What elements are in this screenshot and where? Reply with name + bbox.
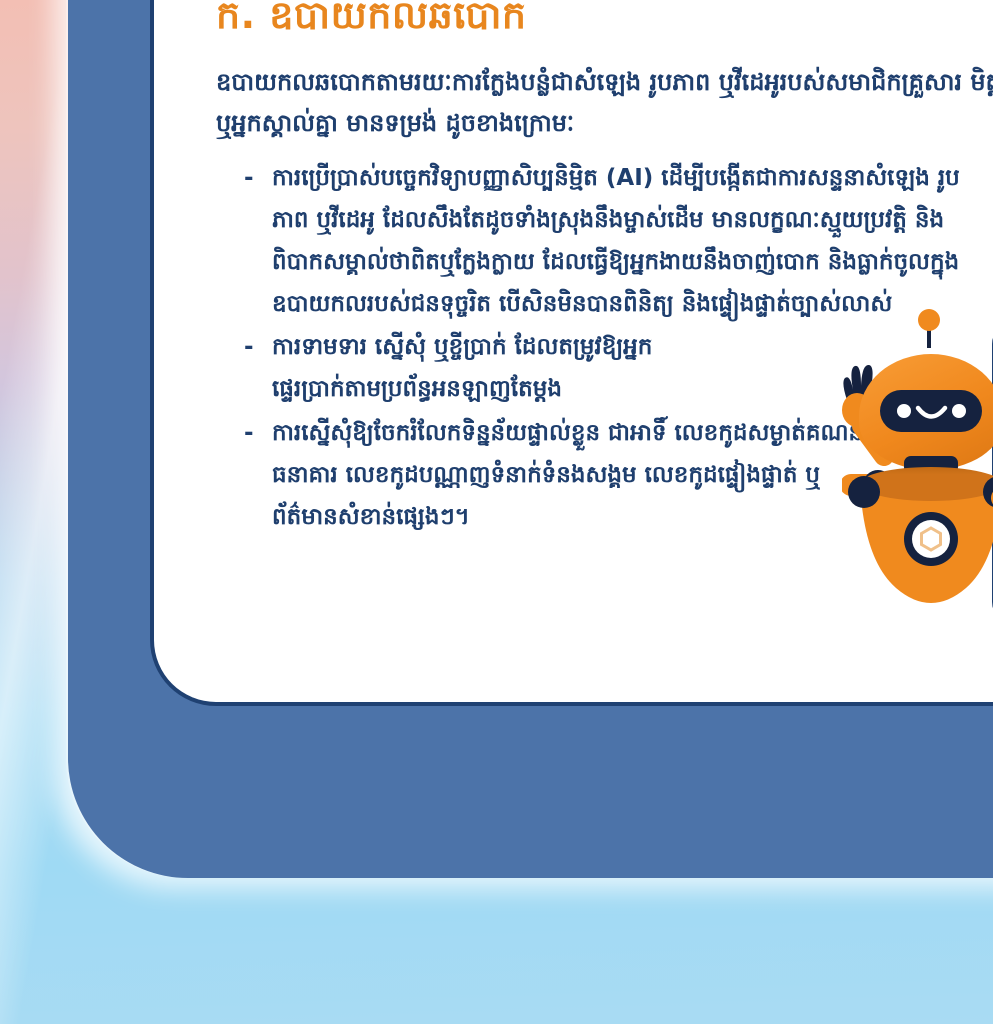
list-item-text: ការស្នើសុំឱ្យចែករំលែកទិន្នន័យផ្ទាល់ខ្លួន… xyxy=(272,420,863,530)
robot-chest-inner xyxy=(912,520,950,558)
page-title: ក. ឧបាយកលឆបោក xyxy=(216,0,993,40)
list-item-text: ការប្រើប្រាស់បច្ចេកវិទ្យាបញ្ញាសិប្បនិម្ម… xyxy=(272,165,960,317)
intro-paragraph: ឧបាយកលឆបោកតាមរយៈការក្លែងបន្លំជាសំឡេង រូប… xyxy=(216,62,993,145)
bullet-marker: - xyxy=(244,158,254,200)
chatbot-robot-illustration xyxy=(842,306,993,626)
robot-shoulder-left xyxy=(848,476,880,508)
list-item: - ការទាមទារ ស្នើសុំ ឬខ្ចីប្រាក់ ដែលតម្រូ… xyxy=(244,327,674,411)
robot-visor xyxy=(880,390,982,432)
list-item: - ការប្រើប្រាស់បច្ចេកវិទ្យាបញ្ញាសិប្បនិម… xyxy=(244,158,984,325)
list-item: - ការស្នើសុំឱ្យចែករំលែកទិន្នន័យផ្ទាល់ខ្ល… xyxy=(244,413,884,539)
bullet-marker: - xyxy=(244,327,254,369)
content-card: ក. ឧបាយកលឆបោក ឧបាយកលឆបោកតាមរយៈការក្លែងបន… xyxy=(150,0,993,706)
robot-eye-right xyxy=(952,404,966,418)
list-item-text: ការទាមទារ ស្នើសុំ ឬខ្ចីប្រាក់ ដែលតម្រូវឱ… xyxy=(272,334,652,402)
bullet-marker: - xyxy=(244,413,254,455)
robot-antenna-tip xyxy=(918,309,940,331)
robot-eye-left xyxy=(897,404,911,418)
